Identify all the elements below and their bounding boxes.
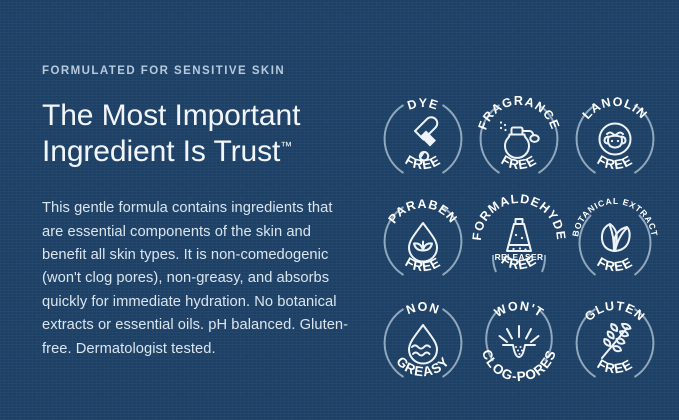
badge-bottom-label: FREE xyxy=(403,254,444,274)
headline-line-2: Ingredient Is Trust xyxy=(42,135,280,168)
badge-top-label: FRAGRANCE xyxy=(476,94,563,132)
sheep-icon xyxy=(600,124,631,155)
badge-non-greasy: NON GREASY xyxy=(375,295,471,391)
copy-column: FORMULATED FOR SENSITIVE SKIN The Most I… xyxy=(0,0,373,420)
open-pore-icon xyxy=(500,326,539,357)
badge-wont-clog-pores: WON'T CLOG-PORES xyxy=(471,295,567,391)
perfume-bottle-icon xyxy=(500,121,539,158)
spray-dots xyxy=(500,121,507,131)
page-title: The Most Important Ingredient Is Trust™ xyxy=(42,98,373,172)
ring-arc-right xyxy=(443,105,462,173)
pore-burst-lines xyxy=(500,326,539,342)
badge-bottom-label: FREE xyxy=(499,152,540,172)
droplet-leaf-icon xyxy=(409,223,437,262)
body-paragraph: This gentle formula contains ingredients… xyxy=(42,197,354,361)
droplet-waves-icon xyxy=(409,325,437,364)
badge-bottom-label: FREE xyxy=(595,356,636,376)
badge-formaldehyde-releaser-free: FORMALDEHYDE RELEASER FREE xyxy=(471,193,567,289)
promo-poster: FORMULATED FOR SENSITIVE SKIN The Most I… xyxy=(0,0,679,420)
claims-badge-grid: DYE FREE xyxy=(373,0,679,420)
badge-top-label: FORMALDEHYDE xyxy=(470,192,568,241)
badge-top-label: NON xyxy=(404,300,441,317)
badge-bottom-label: CLOG-PORES xyxy=(479,347,559,384)
badge-top-label: DYE xyxy=(406,96,441,113)
badge-gluten-free: GLUTEN FREE xyxy=(567,295,663,391)
headline-line-1: The Most Important xyxy=(42,99,300,132)
badge-top-label: WON'T xyxy=(492,299,547,321)
ring-arc-left xyxy=(385,105,404,173)
wheat-stalk-icon xyxy=(602,324,631,358)
eyebrow-text: FORMULATED FOR SENSITIVE SKIN xyxy=(42,66,373,78)
badge-paraben-free: PARABEN FREE xyxy=(375,193,471,289)
badge-dye-free: DYE FREE xyxy=(375,91,471,187)
badge-top-label: GLUTEN xyxy=(582,299,648,324)
chemical-flask-icon xyxy=(507,219,531,251)
badge-bottom-label: FREE xyxy=(595,254,636,274)
badge-fragrance-free: FRAGRANCE FREE xyxy=(471,91,567,187)
badge-botanical-extract-free: BOTANICAL EXTRACT FREE xyxy=(567,193,663,289)
two-leaves-icon xyxy=(602,224,630,251)
badge-lanolin-free: LANOLIN FREE xyxy=(567,91,663,187)
trademark-symbol: ™ xyxy=(280,139,292,153)
